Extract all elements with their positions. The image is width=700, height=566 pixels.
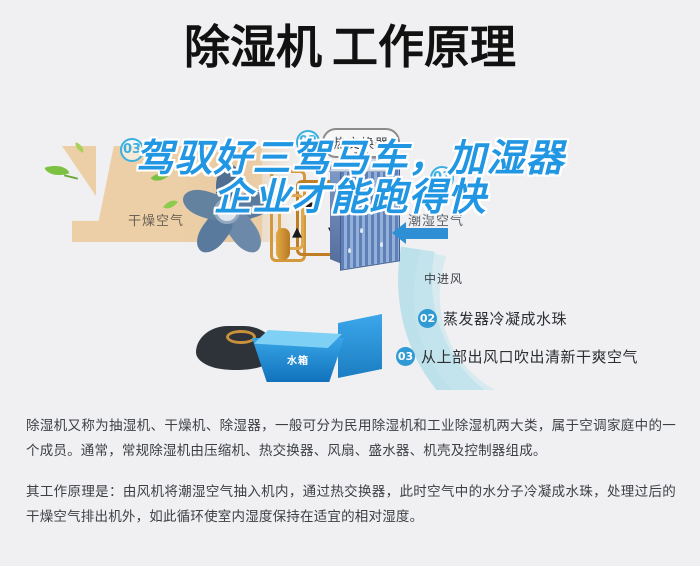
page-title: 除湿机工作原理 (0, 22, 700, 73)
fan-hub (214, 198, 240, 224)
air-inlet-arrow (404, 228, 448, 239)
title-text: 除湿机工作原理 (184, 22, 516, 73)
condensation-drop (348, 248, 351, 253)
step-line-03: 03 从上部出风口吹出清新干爽空气 (396, 346, 638, 367)
infographic-page: 除湿机工作原理 ▶ ▲ (0, 0, 700, 566)
title-part-product: 除湿机 (184, 20, 322, 74)
callout-tail-inner (356, 150, 366, 161)
marker-03-dry-air: 03 (120, 138, 144, 162)
condensation-drop (370, 210, 373, 215)
condensation-drop (360, 228, 363, 233)
heat-exchanger-fins (340, 161, 400, 271)
compressor-cylinder (276, 228, 290, 260)
title-part-topic: 工作原理 (332, 20, 516, 74)
working-principle-diagram: ▶ ▲ ▼ 水箱 03 02 01 干燥 (0, 118, 700, 390)
water-tank-label: 水箱 (252, 352, 344, 367)
body-paragraph-2: 其工作原理是：由风机将潮湿空气抽入机内，通过热交换器，此时空气中的水分子冷凝成水… (26, 480, 676, 530)
heat-exchanger-illustration (330, 158, 408, 270)
body-paragraph-1: 除湿机又称为抽湿机、干燥机、除湿器，一般可分为民用除湿机和工业除湿机两大类，属于… (26, 414, 676, 464)
step-line-02: 02 蒸发器冷凝成水珠 (418, 308, 567, 329)
condensation-drop (380, 242, 383, 247)
condensation-drop (356, 192, 359, 197)
step-text-02: 蒸发器冷凝成水珠 (443, 308, 567, 329)
flow-arrow-up-icon: ▲ (292, 226, 302, 239)
label-dry-air: 干燥空气 (128, 210, 184, 229)
machine-side-panel (338, 314, 382, 378)
label-moist-air: 潮湿空气 (408, 210, 464, 229)
marker-02-heat-exchanger: 02 (296, 130, 320, 154)
air-inlet-arrow-head (392, 222, 406, 244)
marker-01-moist-air: 01 (430, 166, 454, 190)
label-air-inlet: 中进风 (424, 270, 463, 287)
water-tank-illustration: 水箱 (252, 330, 344, 386)
flow-arrow-right-icon: ▶ (306, 198, 316, 211)
body-copy: 除湿机又称为抽湿机、干燥机、除湿器，一般可分为民用除湿机和工业除湿机两大类，属于… (26, 414, 676, 530)
step-number-02: 02 (418, 309, 437, 328)
step-text-03: 从上部出风口吹出清新干爽空气 (421, 346, 638, 367)
step-number-03: 03 (396, 347, 415, 366)
